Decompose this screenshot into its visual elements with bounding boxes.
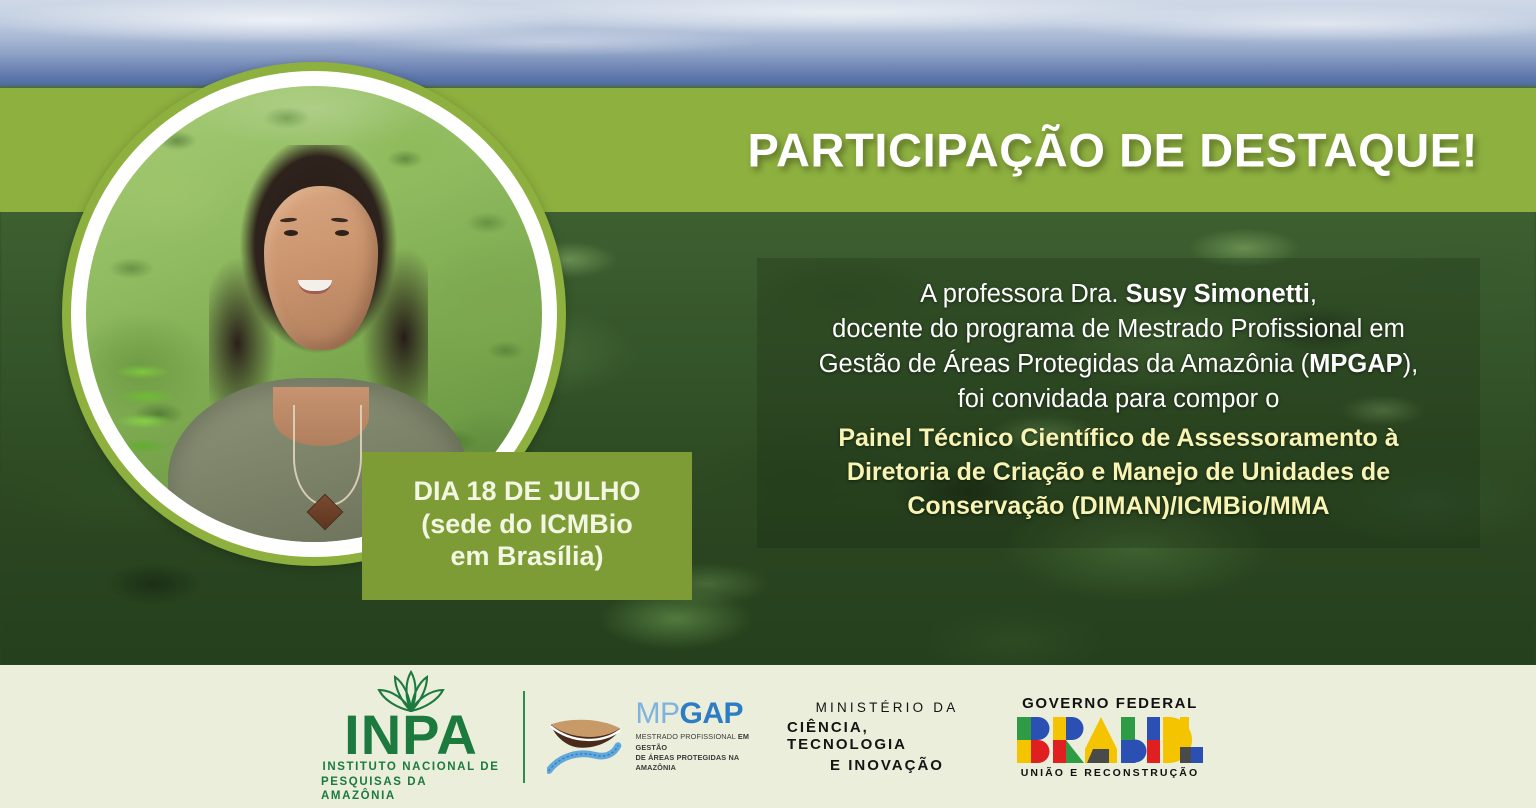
inpa-subtitle-line-2: PESQUISAS DA AMAZÔNIA [321,775,501,804]
inpa-logo: INPA INSTITUTO NACIONAL DE PESQUISAS DA … [321,670,501,804]
announcement-line: foi convidada para compor o [958,382,1280,417]
ministry-line-1: MINISTÉRIO DA [816,700,959,715]
event-date-line-3: em Brasília) [450,540,603,573]
ministry-logo: MINISTÉRIO DA CIÊNCIA, TECNOLOGIA E INOV… [787,700,987,774]
mpgap-subtitle-normal: MESTRADO PROFISSIONAL [636,732,738,741]
announcement-line: Painel Técnico Científico de Assessorame… [838,421,1398,455]
portrait-necklace-chain [293,405,361,505]
mpgap-subtitle: MESTRADO PROFISSIONAL EM GESTÃO DE ÁREAS… [636,732,778,773]
event-date-box: DIA 18 DE JULHO (sede do ICMBio em Brasí… [362,452,692,600]
portrait-eye-left [284,230,298,236]
mpgap-word-light: MP [636,697,680,730]
ministry-line-3: E INOVAÇÃO [830,757,944,774]
footer-divider [523,691,525,783]
mpgap-wordmark: MPGAP [636,699,778,729]
announcement-panel: A professora Dra. Susy Simonetti, docent… [757,258,1480,548]
portrait-eye-right [335,230,349,236]
announcement-line: docente do programa de Mestrado Profissi… [832,312,1405,347]
brasil-wordmark-icon [1017,717,1203,763]
inpa-subtitle-line-1: INSTITUTO NACIONAL DE [323,760,500,774]
announcement-line: A professora Dra. Susy Simonetti, [920,277,1317,312]
mpgap-subtitle-line-2: DE ÁREAS PROTEGIDAS NA AMAZÔNIA [636,753,740,772]
mpgap-canoe-icon [547,694,630,780]
announcement-line: Diretoria de Criação e Manejo de Unidade… [847,455,1390,489]
mpgap-text-block: MPGAP MESTRADO PROFISSIONAL EM GESTÃO DE… [636,699,778,773]
announcement-line: Gestão de Áreas Protegidas da Amazônia (… [819,347,1419,382]
event-date-line-1: DIA 18 DE JULHO [413,475,640,508]
announcement-line: Conservação (DIMAN)/ICMBio/MMA [907,489,1329,523]
inpa-wordmark: INPA [344,709,478,761]
government-logo: GOVERNO FEDERAL [1005,695,1215,779]
government-top-label: GOVERNO FEDERAL [1022,695,1198,712]
poster-canvas: PARTICIPAÇÃO DE DESTAQUE! DIA 18 DE [0,0,1536,808]
event-date-line-2: (sede do ICMBio [421,508,633,541]
government-bottom-label: UNIÃO E RECONSTRUÇÃO [1021,767,1200,779]
ministry-line-2: CIÊNCIA, TECNOLOGIA [787,719,987,753]
mpgap-logo: MPGAP MESTRADO PROFISSIONAL EM GESTÃO DE… [547,694,777,780]
footer-logo-bar: INPA INSTITUTO NACIONAL DE PESQUISAS DA … [0,665,1536,808]
mpgap-word-bold: GAP [680,697,744,730]
